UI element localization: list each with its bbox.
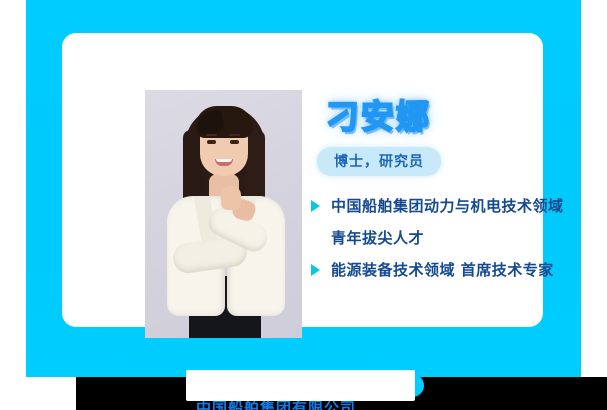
portrait-eye-right — [230, 140, 239, 144]
person-name-block: 刁安娜 — [326, 95, 598, 139]
bottom-caption-box — [186, 370, 415, 401]
credential-line: 中国船舶集团动力与机电技术领域 — [331, 194, 564, 219]
credential-item-continuation: 青年拔尖人才 — [310, 226, 598, 251]
credential-line: 青年拔尖人才 — [331, 226, 424, 251]
title-badge: 博士，研究员 — [317, 147, 441, 176]
triangle-right-icon-placeholder — [310, 229, 324, 247]
footer-band-left-gap — [0, 377, 76, 410]
credential-line: 能源装备技术领域 首席技术专家 — [331, 258, 554, 283]
credential-item: 能源装备技术领域 首席技术专家 — [310, 258, 598, 283]
portrait-eyebrow-left — [206, 134, 217, 136]
portrait-photo — [145, 90, 302, 338]
footer-clipped-caption: 中国船舶集团有限公司 — [196, 401, 411, 410]
portrait-eyebrow-right — [229, 134, 240, 136]
profile-content: 刁安娜 博士，研究员 中国船舶集团动力与机电技术领域 青年拔尖人才 能源装备技术… — [310, 95, 598, 290]
triangle-right-icon — [310, 261, 324, 279]
credential-item: 中国船舶集团动力与机电技术领域 — [310, 194, 598, 219]
credential-list: 中国船舶集团动力与机电技术领域 青年拔尖人才 能源装备技术领域 首席技术专家 — [310, 194, 598, 283]
portrait-teeth — [216, 159, 232, 162]
triangle-right-icon — [310, 197, 324, 215]
portrait-eye-left — [207, 140, 216, 144]
person-name: 刁安娜 — [326, 97, 431, 136]
poster-stage: 刁安娜 博士，研究员 中国船舶集团动力与机电技术领域 青年拔尖人才 能源装备技术… — [0, 0, 607, 410]
profile-card: 刁安娜 博士，研究员 中国船舶集团动力与机电技术领域 青年拔尖人才 能源装备技术… — [62, 33, 543, 327]
portrait-hand-upper — [221, 186, 241, 210]
